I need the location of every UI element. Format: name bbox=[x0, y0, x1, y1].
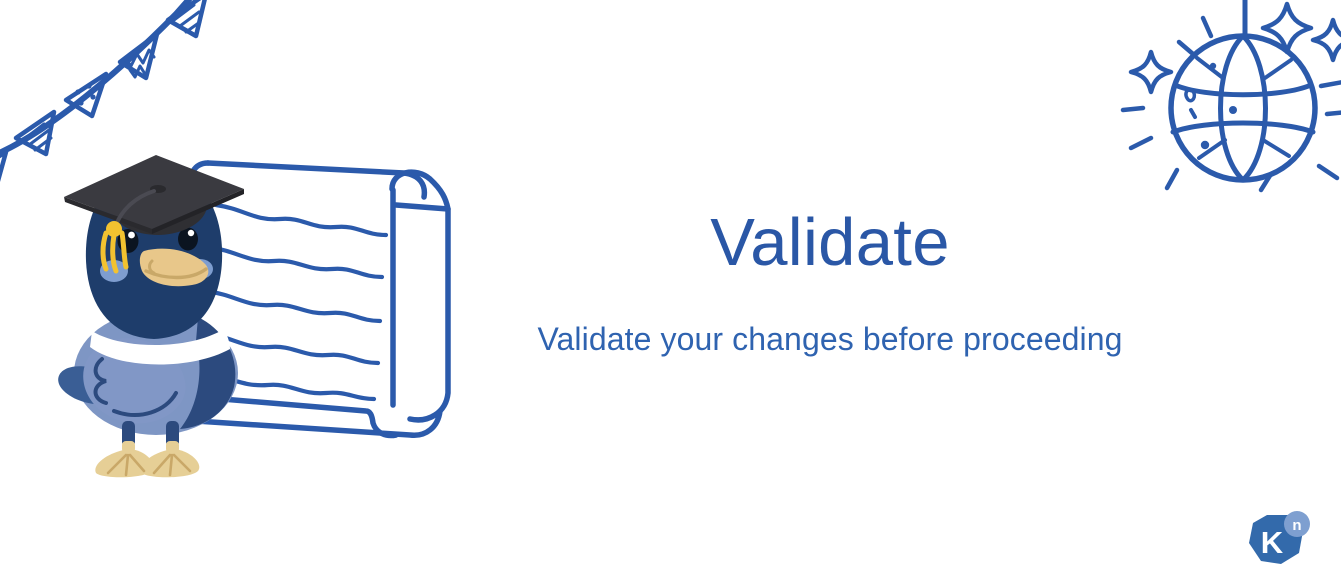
hero-illustration bbox=[48, 135, 468, 480]
hero-text-block: Validate Validate your changes before pr… bbox=[470, 205, 1190, 358]
kn-logo: K n bbox=[1241, 509, 1313, 571]
page-subtitle: Validate your changes before proceeding bbox=[470, 320, 1190, 358]
disco-ball-icon bbox=[1105, 0, 1341, 225]
page-title: Validate bbox=[470, 205, 1190, 280]
graduate-bird-mascot bbox=[58, 155, 244, 477]
logo-letter-k: K bbox=[1261, 525, 1284, 560]
slide-canvas: Validate Validate your changes before pr… bbox=[0, 0, 1341, 585]
logo-letter-n: n bbox=[1292, 517, 1301, 534]
